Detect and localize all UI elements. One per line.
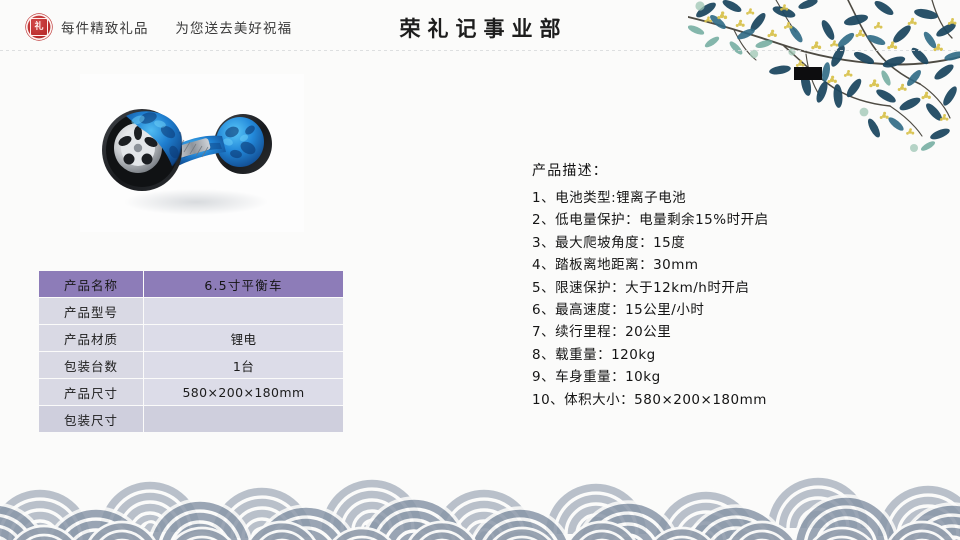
header-bar: 礼 每件精致礼品 为您送去美好祝福 荣礼记事业部 (0, 0, 960, 52)
table-row: 包装台数 1台 (39, 352, 344, 379)
spec-value: 锂电 (144, 325, 344, 352)
table-row: 产品名称 6.5寸平衡车 (39, 271, 344, 298)
product-description-block: 产品描述： 1、电池类型:锂离子电池 2、低电量保护：电量剩余15%时开启 3、… (532, 160, 932, 411)
description-item: 7、续行里程：20公里 (532, 321, 932, 343)
wave-pattern (0, 448, 960, 540)
spec-label: 产品名称 (39, 271, 144, 298)
spec-value (144, 298, 344, 325)
page-title: 荣礼记事业部 (0, 13, 960, 43)
description-item: 6、最高速度：15公里/小时 (532, 299, 932, 321)
description-item: 4、踏板离地距离：30mm (532, 254, 932, 276)
description-item: 3、最大爬坡角度：15度 (532, 232, 932, 254)
table-row: 产品材质 锂电 (39, 325, 344, 352)
spec-label: 包装台数 (39, 352, 144, 379)
header-divider (0, 50, 960, 51)
spec-value (144, 406, 344, 433)
slide-canvas: 礼 每件精致礼品 为您送去美好祝福 荣礼记事业部 (0, 0, 960, 540)
description-item: 1、电池类型:锂离子电池 (532, 187, 932, 209)
artwork-badge (794, 67, 822, 80)
spec-value: 580×200×180mm (144, 379, 344, 406)
description-item: 10、体积大小：580×200×180mm (532, 389, 932, 411)
description-item: 9、车身重量：10kg (532, 366, 932, 388)
spec-label: 产品材质 (39, 325, 144, 352)
hoverboard-product-image (80, 74, 304, 232)
description-item: 2、低电量保护：电量剩余15%时开启 (532, 209, 932, 231)
description-title: 产品描述： (532, 160, 932, 180)
spec-label: 包装尺寸 (39, 406, 144, 433)
description-item: 5、限速保护：大于12km/h时开启 (532, 277, 932, 299)
spec-value: 1台 (144, 352, 344, 379)
description-item: 8、载重量：120kg (532, 344, 932, 366)
spec-label: 产品型号 (39, 298, 144, 325)
spec-label: 产品尺寸 (39, 379, 144, 406)
table-row: 包装尺寸 (39, 406, 344, 433)
product-spec-table: 产品名称 6.5寸平衡车 产品型号 产品材质 锂电 包装台数 1台 产品尺寸 5… (38, 270, 344, 433)
table-row: 产品尺寸 580×200×180mm (39, 379, 344, 406)
spec-value: 6.5寸平衡车 (144, 271, 344, 298)
table-row: 产品型号 (39, 298, 344, 325)
